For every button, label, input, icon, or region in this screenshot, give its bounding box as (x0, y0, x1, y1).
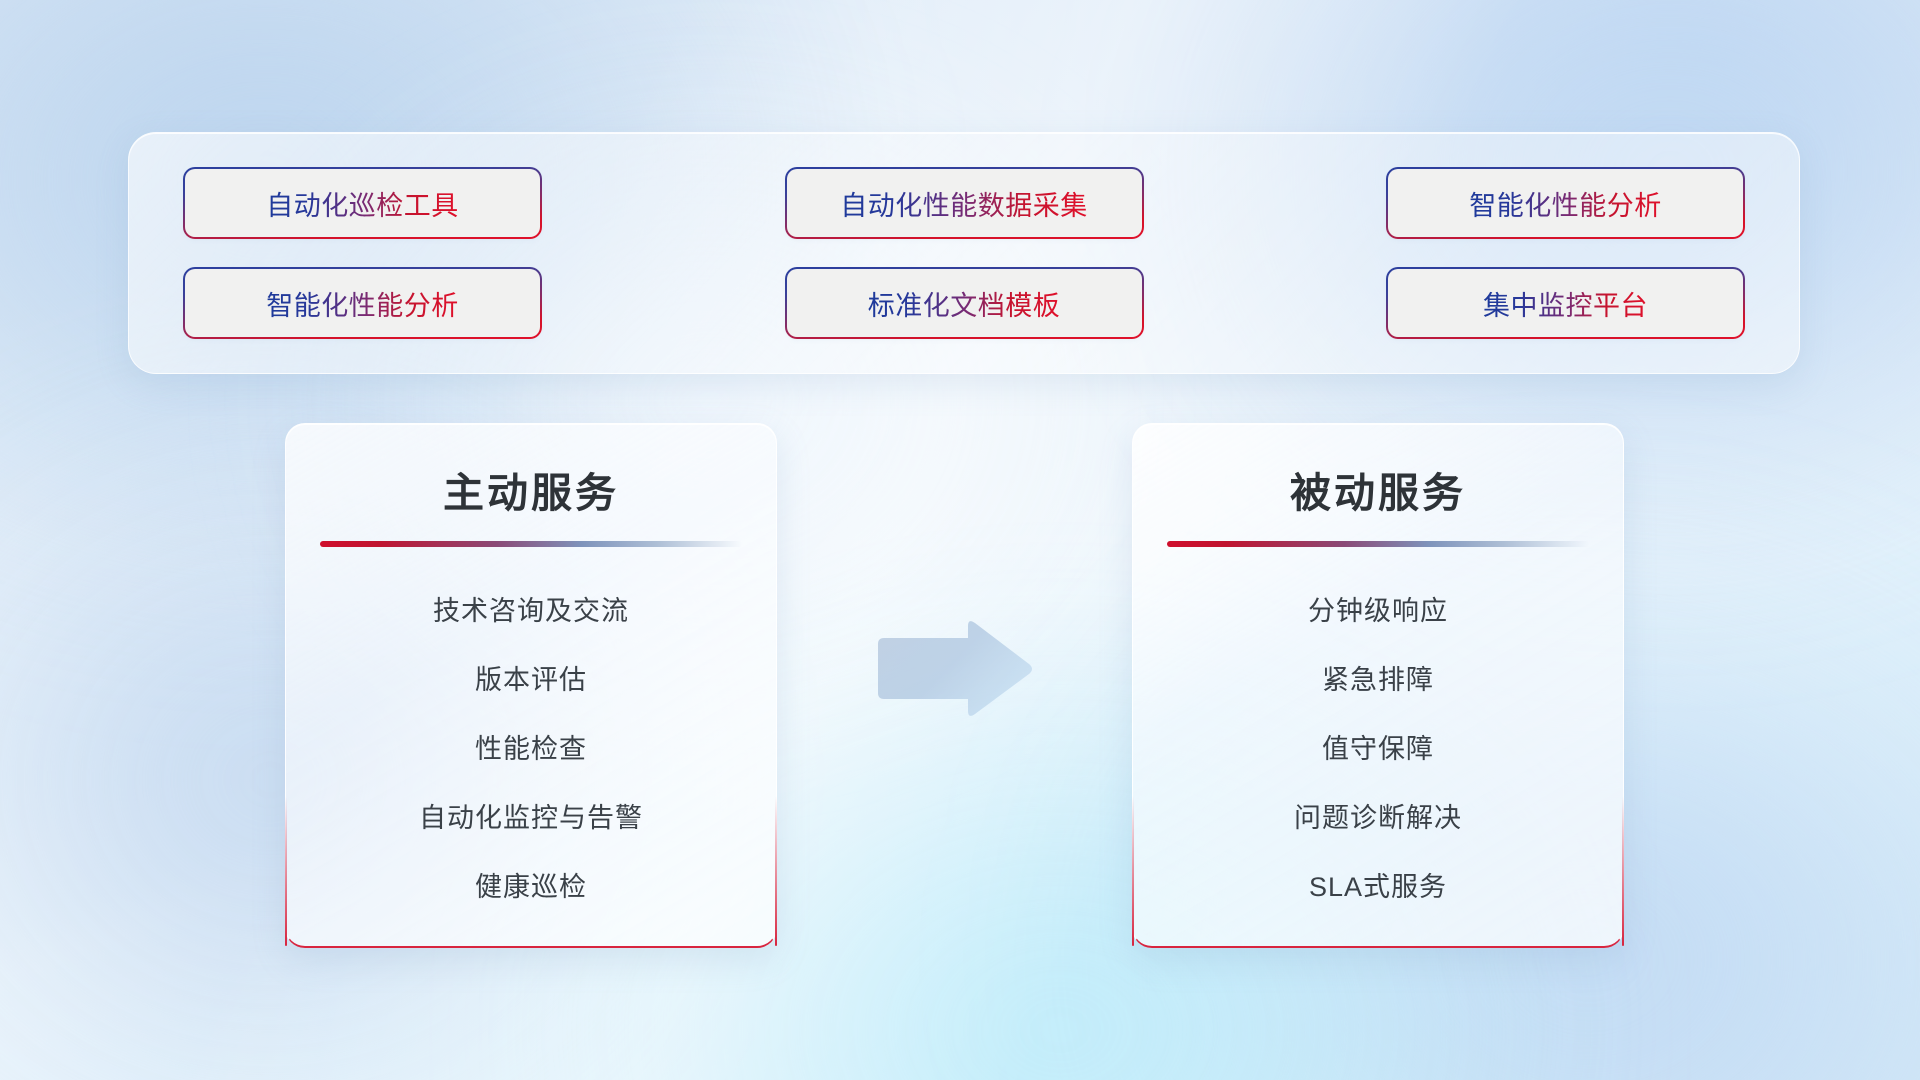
card-item-list: 技术咨询及交流 版本评估 性能检查 自动化监控与告警 健康巡检 (320, 589, 742, 904)
right-arrow-icon (872, 616, 1037, 721)
capability-chip-label: 智能化性能分析 (1469, 184, 1662, 223)
card-title-underline (1167, 541, 1589, 547)
capability-row-2: 智能化性能分析 标准化文档模板 集中监控平台 (185, 269, 1743, 337)
capability-row-1: 自动化巡检工具 自动化性能数据采集 智能化性能分析 (185, 169, 1743, 237)
service-card-reactive: 被动服务 分钟级响应 紧急排障 值守保障 问题诊断解决 SLA式服务 (1132, 423, 1624, 948)
list-item: 自动化监控与告警 (419, 796, 643, 835)
list-item: 紧急排障 (1322, 658, 1434, 697)
card-title: 主动服务 (443, 470, 619, 517)
list-item: 值守保障 (1322, 727, 1434, 766)
capability-chip-automated-inspection-tool[interactable]: 自动化巡检工具 (185, 169, 540, 237)
service-card-proactive: 主动服务 技术咨询及交流 版本评估 性能检查 自动化监控与告警 健康巡检 (285, 423, 777, 948)
capability-chip-label: 集中监控平台 (1483, 284, 1648, 323)
capability-chip-label: 标准化文档模板 (868, 284, 1061, 323)
card-title-underline (320, 541, 742, 547)
capability-chip-automated-performance-data-collection[interactable]: 自动化性能数据采集 (787, 169, 1142, 237)
capability-chip-label: 自动化巡检工具 (266, 184, 459, 223)
capability-panel: 自动化巡检工具 自动化性能数据采集 智能化性能分析 智能化性能分析 标准化文档模… (128, 132, 1800, 374)
card-item-list: 分钟级响应 紧急排障 值守保障 问题诊断解决 SLA式服务 (1167, 589, 1589, 904)
list-item: 分钟级响应 (1308, 589, 1448, 628)
list-item: 版本评估 (475, 658, 587, 697)
list-item: 技术咨询及交流 (433, 589, 629, 628)
capability-chip-standardized-document-template[interactable]: 标准化文档模板 (787, 269, 1142, 337)
list-item: 问题诊断解决 (1294, 796, 1462, 835)
capability-chip-intelligent-performance-analysis[interactable]: 智能化性能分析 (1388, 169, 1743, 237)
list-item: 健康巡检 (475, 865, 587, 904)
capability-chip-intelligent-performance-analysis-2[interactable]: 智能化性能分析 (185, 269, 540, 337)
capability-chip-label: 智能化性能分析 (266, 284, 459, 323)
capability-chip-label: 自动化性能数据采集 (840, 184, 1088, 223)
list-item: SLA式服务 (1309, 865, 1447, 904)
list-item: 性能检查 (475, 727, 587, 766)
capability-chip-centralized-monitoring-platform[interactable]: 集中监控平台 (1388, 269, 1743, 337)
card-title: 被动服务 (1290, 470, 1466, 517)
